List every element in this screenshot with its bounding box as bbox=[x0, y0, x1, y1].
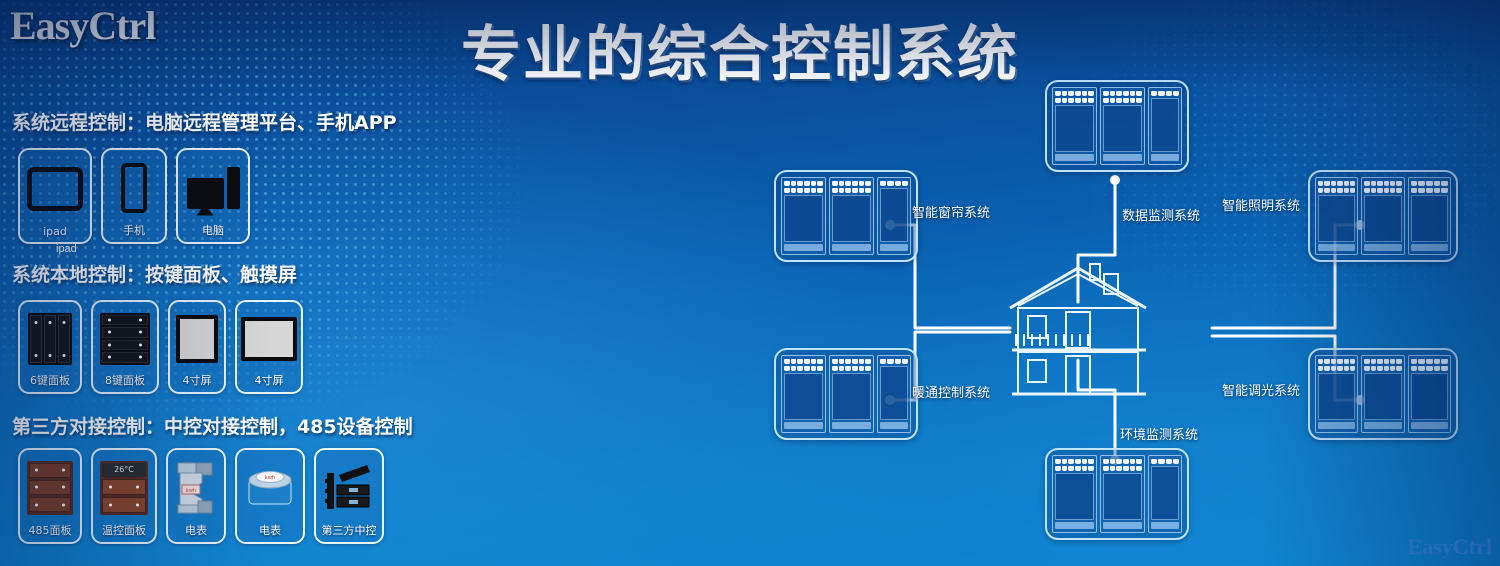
svg-text:kwh: kwh bbox=[186, 488, 196, 494]
system-topology-diagram: 智能窗帘系统 数据监测系统 智能照明系统 暖通控制系统 环境监测系统 智能调光系… bbox=[760, 60, 1500, 566]
device-label: 6键面板 bbox=[30, 372, 70, 388]
energy-meter-round-icon: kwh bbox=[241, 456, 299, 519]
desktop-computer-icon bbox=[182, 156, 244, 219]
device-card-screen-b[interactable]: 4寸屏 bbox=[235, 300, 303, 394]
node-label-data: 数据监测系统 bbox=[1122, 205, 1200, 224]
node-label-dimming: 智能调光系统 bbox=[1222, 380, 1300, 399]
smartphone-icon bbox=[107, 156, 161, 219]
device-row-local: 6键面板 8键面板 4寸屏 4寸屏 bbox=[18, 300, 303, 394]
device-card-pc[interactable]: 电脑 bbox=[176, 148, 250, 244]
node-label-curtain: 智能窗帘系统 bbox=[912, 202, 990, 221]
device-label: 第三方中控 bbox=[322, 522, 377, 538]
section-heading-remote: 系统远程控制：电脑远程管理平台、手机APP bbox=[12, 108, 397, 135]
brand-logo: EasyCtrl bbox=[10, 2, 155, 49]
device-row-thirdparty: 485面板 26°C 温控面板 kwh 电表 bbox=[18, 448, 384, 544]
device-label: 电表 bbox=[185, 522, 207, 538]
device-row-remote: ipad 手机 电脑 bbox=[18, 148, 250, 244]
device-card-screen-a[interactable]: 4寸屏 bbox=[168, 300, 226, 394]
device-label: 4寸屏 bbox=[183, 372, 212, 388]
device-label: 温控面板 bbox=[102, 522, 146, 538]
module-box-hvac[interactable] bbox=[774, 348, 918, 440]
tablet-icon bbox=[24, 156, 86, 222]
ipad-extra-note: ipad bbox=[56, 243, 77, 255]
node-label-lighting: 智能照明系统 bbox=[1222, 195, 1300, 214]
device-label: 电脑 bbox=[202, 222, 224, 238]
section-heading-thirdparty: 第三方对接控制：中控对接控制，485设备控制 bbox=[12, 412, 413, 439]
module-box-curtain[interactable] bbox=[774, 170, 918, 262]
device-label: 4寸屏 bbox=[255, 372, 284, 388]
brand-watermark: EasyCtrl bbox=[1408, 534, 1492, 560]
thermostat-display: 26°C bbox=[102, 463, 146, 477]
device-card-thermostat[interactable]: 26°C 温控面板 bbox=[91, 448, 157, 544]
device-card-ipad[interactable]: ipad bbox=[18, 148, 92, 244]
rs485-panel-icon bbox=[24, 456, 76, 519]
poster-canvas: EasyCtrl 专业的综合控制系统 系统远程控制：电脑远程管理平台、手机APP… bbox=[0, 0, 1500, 566]
device-label: ipad bbox=[43, 225, 67, 238]
device-card-485panel[interactable]: 485面板 bbox=[18, 448, 82, 544]
device-card-6key[interactable]: 6键面板 bbox=[18, 300, 82, 394]
svg-text:kwh: kwh bbox=[265, 475, 275, 481]
module-box-lighting[interactable] bbox=[1308, 170, 1458, 262]
third-party-controller-icon bbox=[320, 456, 378, 519]
node-label-environment: 环境监测系统 bbox=[1120, 424, 1198, 443]
device-card-meter-din[interactable]: kwh 电表 bbox=[166, 448, 226, 544]
six-key-panel-icon bbox=[24, 308, 76, 369]
device-label: 手机 bbox=[123, 222, 145, 238]
module-box-environment[interactable] bbox=[1045, 448, 1189, 540]
touchscreen-large-icon bbox=[241, 308, 297, 369]
section-heading-local: 系统本地控制：按键面板、触摸屏 bbox=[12, 260, 297, 287]
module-box-dimming[interactable] bbox=[1308, 348, 1458, 440]
module-box-data[interactable] bbox=[1045, 80, 1189, 172]
device-card-phone[interactable]: 手机 bbox=[101, 148, 167, 244]
energy-meter-din-icon: kwh bbox=[172, 456, 220, 519]
device-card-8key[interactable]: 8键面板 bbox=[91, 300, 159, 394]
device-label: 485面板 bbox=[29, 522, 72, 538]
device-label: 电表 bbox=[259, 522, 281, 538]
touchscreen-small-icon bbox=[174, 308, 220, 369]
thermostat-panel-icon: 26°C bbox=[97, 456, 151, 519]
node-label-hvac: 暖通控制系统 bbox=[912, 382, 990, 401]
device-label: 8键面板 bbox=[105, 372, 145, 388]
device-card-thirdparty-ctrl[interactable]: 第三方中控 bbox=[314, 448, 384, 544]
eight-key-panel-icon bbox=[97, 308, 153, 369]
device-card-meter-round[interactable]: kwh 电表 bbox=[235, 448, 305, 544]
